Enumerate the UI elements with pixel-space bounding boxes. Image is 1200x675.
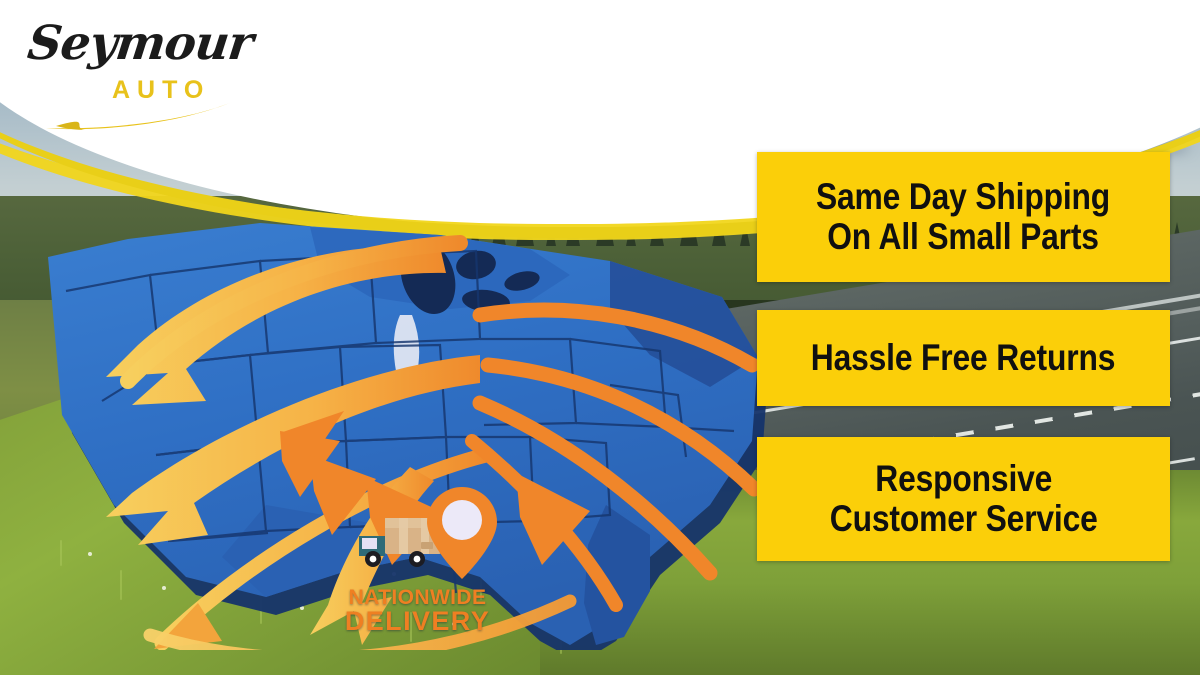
nationwide-delivery-label: NATIONWIDE DELIVERY bbox=[330, 587, 505, 636]
callout-text: Responsive Customer Service bbox=[830, 459, 1098, 538]
callout-hassle-free-returns[interactable]: Hassle Free Returns bbox=[757, 310, 1170, 406]
nationwide-line1: NATIONWIDE bbox=[330, 587, 505, 608]
usa-map-svg bbox=[10, 205, 800, 650]
callout-responsive-customer-service[interactable]: Responsive Customer Service bbox=[757, 437, 1170, 561]
callout-text: Same Day Shipping On All Small Parts bbox=[816, 177, 1110, 256]
logo-swoosh-icon bbox=[44, 98, 234, 132]
nationwide-line2: DELIVERY bbox=[330, 608, 505, 636]
logo-wordmark-script: Seymour bbox=[25, 16, 242, 71]
usa-map-graphic: NATIONWIDE DELIVERY bbox=[10, 205, 800, 650]
callout-same-day-shipping[interactable]: Same Day Shipping On All Small Parts bbox=[757, 152, 1170, 282]
seymour-auto-logo[interactable]: Seymour AUTO bbox=[28, 14, 238, 126]
banner-canvas: NATIONWIDE DELIVERY Seymour AUTO Same Da… bbox=[0, 0, 1200, 675]
map-pin-icon bbox=[425, 485, 499, 581]
callout-text: Hassle Free Returns bbox=[811, 338, 1115, 378]
